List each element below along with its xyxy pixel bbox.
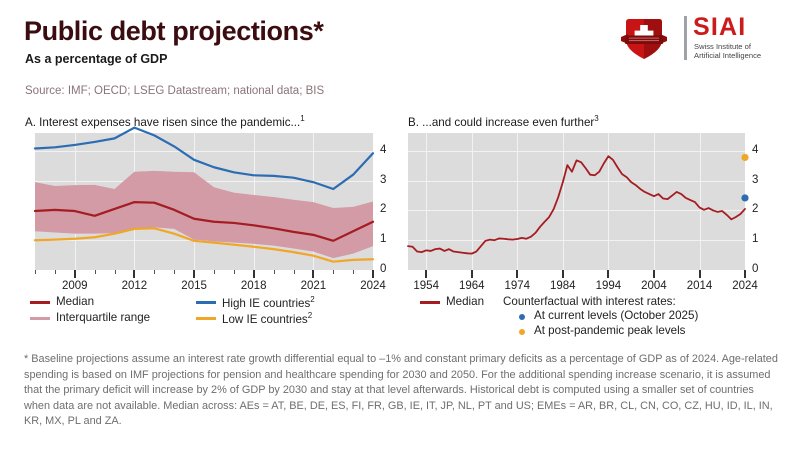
logo-tagline-line2: Artificial Intelligence	[694, 51, 761, 60]
logo-tagline: Swiss Institute of Artificial Intelligen…	[694, 42, 761, 61]
x-tick-major	[744, 270, 746, 278]
panel-a-plot-area	[35, 133, 373, 270]
x-tick-minor	[174, 270, 175, 274]
x-tick-label: 2004	[634, 281, 674, 292]
legend-label-high-ie: High IE countries2	[222, 295, 315, 310]
y-tick-label: 4	[380, 145, 386, 156]
legend-swatch-high-ie	[196, 301, 216, 304]
x-tick-minor	[35, 270, 36, 274]
x-tick-major	[425, 270, 427, 278]
logo-divider	[684, 16, 687, 60]
page-title: Public debt projections*	[24, 16, 323, 47]
panel-b-title-superscript: 3	[594, 114, 598, 123]
x-tick-minor	[55, 270, 56, 274]
x-tick-label: 1964	[452, 281, 492, 292]
x-tick-label: 1994	[588, 281, 628, 292]
datapoint-at-post-pandemic-peak-levels	[741, 154, 748, 161]
x-tick-label: 2009	[55, 281, 95, 292]
legend-swatch-iqr	[30, 317, 50, 320]
y-tick-label: 1	[380, 234, 386, 245]
x-tick-major	[699, 270, 701, 278]
legend-swatch-median-b	[420, 301, 440, 304]
panel-a-title: A. Interest expenses have risen since th…	[25, 114, 305, 129]
screenshot-root: Public debt projections* As a percentage…	[0, 0, 800, 450]
panel-b-plot-area	[408, 133, 745, 270]
y-tick-label: 3	[380, 175, 386, 186]
x-tick-label: 1974	[497, 281, 537, 292]
x-tick-label: 2014	[680, 281, 720, 292]
legend-label-low-ie: Low IE countries2	[222, 311, 312, 326]
footnote-text: * Baseline projections assume an interes…	[24, 352, 780, 430]
x-tick-label: 2018	[234, 281, 274, 292]
legend-label-median-a: Median	[56, 295, 94, 308]
x-tick-label: 2024	[353, 281, 393, 292]
x-tick-major	[562, 270, 564, 278]
x-tick-label: 2015	[174, 281, 214, 292]
y-tick-label: 4	[752, 145, 758, 156]
x-tick-major	[372, 270, 374, 278]
legend-swatch-median-a	[30, 301, 50, 304]
y-tick-label: 0	[380, 264, 386, 275]
legend-label-iqr: Interquartile range	[56, 311, 150, 324]
series-median	[408, 156, 745, 253]
x-tick-minor	[234, 270, 235, 274]
legend-label-median-b: Median	[446, 295, 484, 308]
x-tick-label: 2012	[114, 281, 154, 292]
y-tick-label: 1	[752, 234, 758, 245]
legend-label-current-levels: At current levels (October 2025)	[534, 309, 698, 322]
x-tick-major	[516, 270, 518, 278]
panel-a-title-superscript: 1	[300, 114, 304, 123]
legend-label-peak-levels: At post-pandemic peak levels	[534, 324, 685, 337]
datapoint-at-current-levels-october-2025-	[741, 194, 748, 201]
x-tick-minor	[294, 270, 295, 274]
y-tick-label: 2	[752, 204, 758, 215]
x-tick-label: 2024	[725, 281, 765, 292]
logo-tagline-line1: Swiss Institute of	[694, 42, 761, 51]
y-tick-label: 0	[752, 264, 758, 275]
legend-dot-current-levels	[519, 314, 525, 320]
x-tick-label: 1954	[406, 281, 446, 292]
logo-wordmark: SIAI	[693, 15, 746, 40]
panel-b-title: B. ...and could increase even further3	[408, 114, 599, 129]
siai-logo: SIAI Swiss Institute of Artificial Intel…	[612, 14, 788, 62]
page-subtitle: As a percentage of GDP	[25, 52, 167, 66]
x-tick-major	[653, 270, 655, 278]
panel-b-series-layer	[408, 133, 745, 270]
x-tick-minor	[115, 270, 116, 274]
x-tick-major	[253, 270, 255, 278]
legend-swatch-low-ie	[196, 317, 216, 320]
panel-b-title-text: B. ...and could increase even further	[408, 116, 594, 129]
legend-dot-peak-levels	[519, 329, 525, 335]
x-tick-major	[74, 270, 76, 278]
x-tick-major	[607, 270, 609, 278]
y-tick-label: 2	[380, 204, 386, 215]
x-tick-label: 1984	[543, 281, 583, 292]
panel-a-title-text: A. Interest expenses have risen since th…	[25, 116, 300, 129]
x-tick-minor	[333, 270, 334, 274]
x-tick-major	[312, 270, 314, 278]
legend-heading-counterfactual: Counterfactual with interest rates:	[503, 295, 676, 308]
x-tick-minor	[214, 270, 215, 274]
source-line: Source: IMF; OECD; LSEG Datastream; nati…	[25, 85, 324, 97]
x-tick-major	[193, 270, 195, 278]
panel-a-series-layer	[35, 133, 373, 270]
x-tick-minor	[353, 270, 354, 274]
swiss-cross-shield-icon	[612, 14, 676, 62]
x-tick-minor	[95, 270, 96, 274]
y-tick-label: 3	[752, 175, 758, 186]
x-tick-minor	[274, 270, 275, 274]
x-tick-major	[133, 270, 135, 278]
x-tick-minor	[154, 270, 155, 274]
x-tick-major	[471, 270, 473, 278]
x-tick-label: 2021	[293, 281, 333, 292]
